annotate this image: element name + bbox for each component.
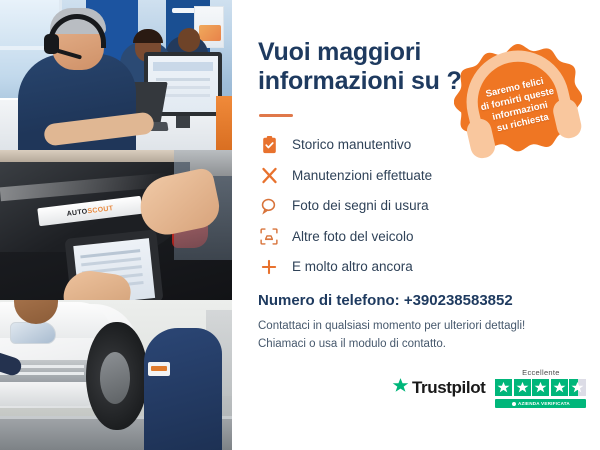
rating-star-1 — [495, 379, 512, 396]
rating-label: Eccellente — [495, 368, 586, 377]
vehicle-inspection-tablet-photo: AUTOSCOUT — [0, 150, 232, 300]
feature-label: Storico manutentivo — [292, 137, 411, 152]
trustpilot-widget[interactable]: Trustpilot Eccellente — [392, 368, 586, 408]
contact-line-1: Contattaci in qualsiasi momento per ulte… — [258, 318, 588, 336]
rating-star-4 — [551, 379, 568, 396]
verified-badge-label: AZIENDA VERIFICATA — [518, 401, 570, 406]
trustpilot-logo: Trustpilot — [392, 377, 485, 399]
photo-column: AUTOSCOUT — [0, 0, 232, 450]
info-panel: Vuoi maggiori informazioni su ? Saremo f… — [232, 0, 600, 450]
verified-business-badge: AZIENDA VERIFICATA — [495, 399, 586, 408]
workshop-tire-service-photo — [0, 300, 232, 450]
clipboard-check-icon — [258, 134, 280, 156]
feature-label: Manutenzioni effettuate — [292, 168, 432, 183]
rating-star-5-partial — [569, 379, 586, 396]
call-center-agents-photo — [0, 0, 232, 150]
promo-card: AUTOSCOUT Vuoi maggiori infor — [0, 0, 600, 450]
page-title-line-2: informazioni su ? — [258, 67, 474, 96]
title-underline-divider — [259, 114, 293, 117]
feature-list: Storico manutentivo Manutenzioni effettu… — [258, 132, 558, 285]
feature-label: Altre foto del veicolo — [292, 229, 414, 244]
contact-line-2: Chiamaci o usa il modulo di contatto. — [258, 336, 588, 354]
page-title-line-1: Vuoi maggiori — [258, 38, 474, 67]
car-frame-icon — [258, 225, 280, 247]
rating-star-2 — [514, 379, 531, 396]
feature-item-storico-manutentivo: Storico manutentivo — [258, 132, 558, 157]
plus-icon — [258, 256, 280, 278]
feature-label: Foto dei segni di usura — [292, 198, 429, 213]
trustpilot-brand-name: Trustpilot — [412, 378, 485, 398]
phone-number-label[interactable]: Numero di telefono: +390238583852 — [258, 292, 513, 309]
page-title: Vuoi maggiori informazioni su ? — [258, 38, 474, 95]
contact-instructions: Contattaci in qualsiasi momento per ulte… — [258, 318, 588, 354]
feature-item-molto-altro: E molto altro ancora — [258, 254, 558, 279]
search-bubble-icon — [258, 195, 280, 217]
star-rating — [495, 379, 586, 396]
wrench-screwdriver-icon — [258, 164, 280, 186]
feature-item-manutenzioni-effettuate: Manutenzioni effettuate — [258, 163, 558, 188]
feature-item-altre-foto-veicolo: Altre foto del veicolo — [258, 224, 558, 249]
trustpilot-rating: Eccellente — [495, 368, 586, 408]
verified-check-icon — [512, 402, 516, 406]
rating-star-3 — [532, 379, 549, 396]
feature-item-foto-segni-usura: Foto dei segni di usura — [258, 193, 558, 218]
feature-label: E molto altro ancora — [292, 259, 413, 274]
trustpilot-star-icon — [392, 377, 409, 399]
